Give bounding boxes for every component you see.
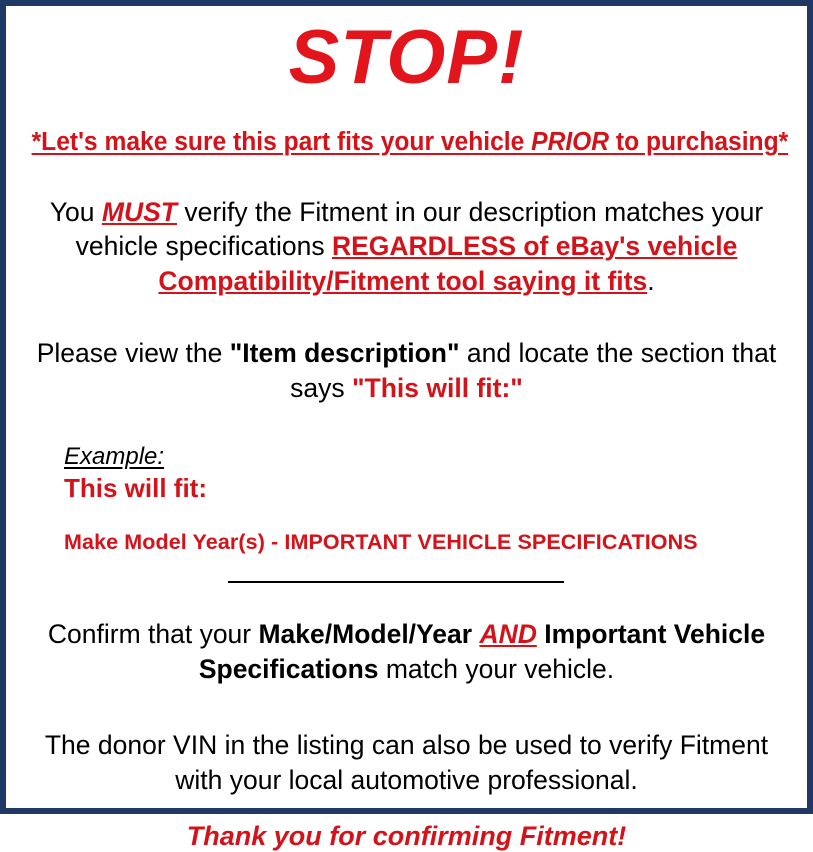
horizontal-divider [228,581,564,583]
confirm-paragraph: Confirm that your Make/Model/Year AND Im… [18,617,795,686]
subtitle-emphasis-prior: PRIOR [531,128,609,156]
example-specification-line: Make Model Year(s) - IMPORTANT VEHICLE S… [64,530,795,555]
must-seg-1: You [50,197,102,227]
must-seg-3: . [647,266,654,296]
example-fit-heading: This will fit: [64,472,795,505]
fitment-notice-frame: STOP! *Let's make sure this part fits yo… [0,0,813,814]
must-verify-paragraph: You MUST verify the Fitment in our descr… [18,195,795,298]
this-will-fit-quote: "This will fit:" [352,373,523,403]
item-description-quote: "Item description" [230,338,460,368]
donor-vin-paragraph: The donor VIN in the listing can also be… [18,728,795,797]
notice-content: STOP! *Let's make sure this part fits yo… [18,20,795,822]
example-block: Example: This will fit: Make Model Year(… [18,443,795,555]
confirm-seg-2: match your vehicle. [379,654,615,684]
subtitle-text-before: *Let's make sure this part fits your veh… [32,128,532,156]
please-seg-1: Please view the [37,338,230,368]
example-label: Example: [64,443,795,471]
subtitle-text-after: to purchasing* [609,128,788,156]
must-emphasis: MUST [102,197,177,227]
stop-title: STOP! [18,20,795,96]
divider-wrap [18,577,795,591]
subtitle-banner: *Let's make sure this part fits your veh… [32,128,782,157]
make-model-year-emphasis: Make/Model/Year [258,619,472,649]
confirm-seg-1: Confirm that your [48,619,259,649]
item-description-paragraph: Please view the "Item description" and l… [18,336,795,405]
thank-you-line: Thank you for confirming Fitment! [18,821,795,852]
and-emphasis: AND [479,619,536,649]
